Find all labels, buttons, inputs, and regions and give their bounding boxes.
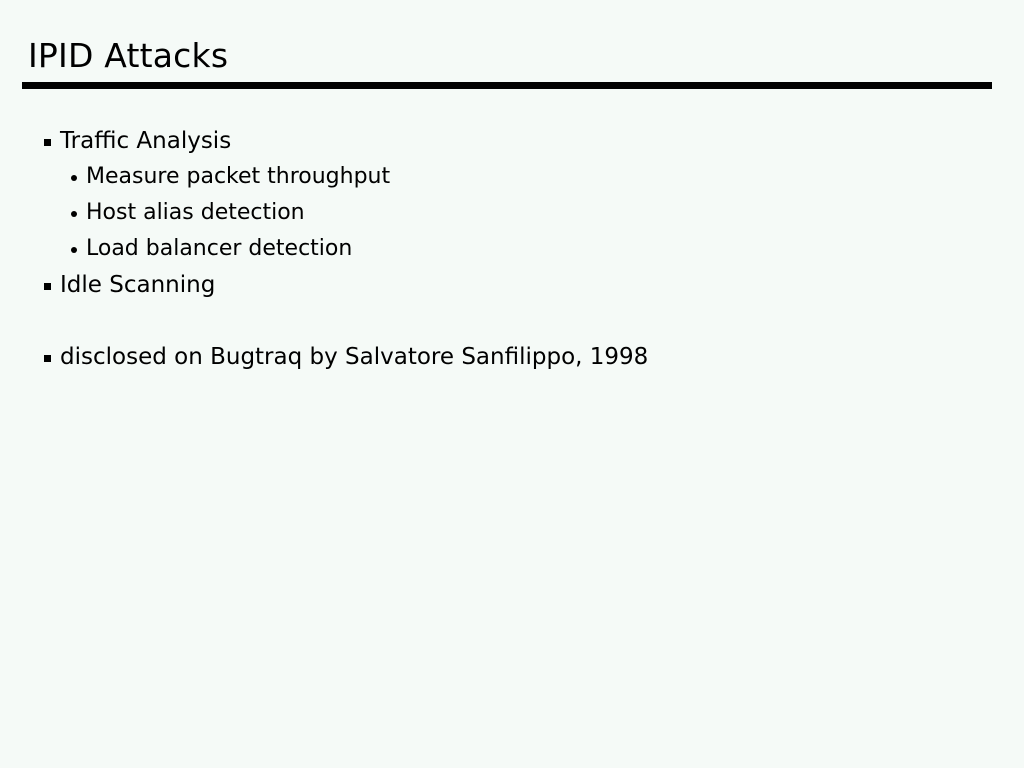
bullet-label: disclosed on Bugtraq by Salvatore Sanfil… [60, 340, 648, 374]
bullet-item-level-1: disclosed on Bugtraq by Salvatore Sanfil… [0, 340, 1024, 376]
bullet-label: Measure packet throughput [86, 160, 390, 194]
bullet-label: Host alias detection [86, 196, 305, 230]
dot-bullet-icon [71, 247, 77, 253]
bullet-item-level-1: Traffic Analysis [0, 124, 1024, 160]
square-bullet-icon [44, 355, 51, 362]
dot-bullet-icon [71, 175, 77, 181]
bullet-label: Idle Scanning [60, 268, 215, 302]
page-title: IPID Attacks [28, 36, 228, 76]
title-underline-rule [22, 82, 992, 89]
square-bullet-icon [44, 139, 51, 146]
dot-bullet-icon [71, 211, 77, 217]
bullet-label: Load balancer detection [86, 232, 352, 266]
bullet-item-level-2: Host alias detection [0, 196, 1024, 232]
bullet-item-level-2: Load balancer detection [0, 232, 1024, 268]
bullet-label: Traffic Analysis [60, 124, 231, 158]
presentation-slide: IPID Attacks Traffic AnalysisMeasure pac… [0, 0, 1024, 768]
bullet-item-level-1: Idle Scanning [0, 268, 1024, 304]
slide-body: Traffic AnalysisMeasure packet throughpu… [0, 124, 1024, 376]
square-bullet-icon [44, 283, 51, 290]
bullet-item-level-2: Measure packet throughput [0, 160, 1024, 196]
